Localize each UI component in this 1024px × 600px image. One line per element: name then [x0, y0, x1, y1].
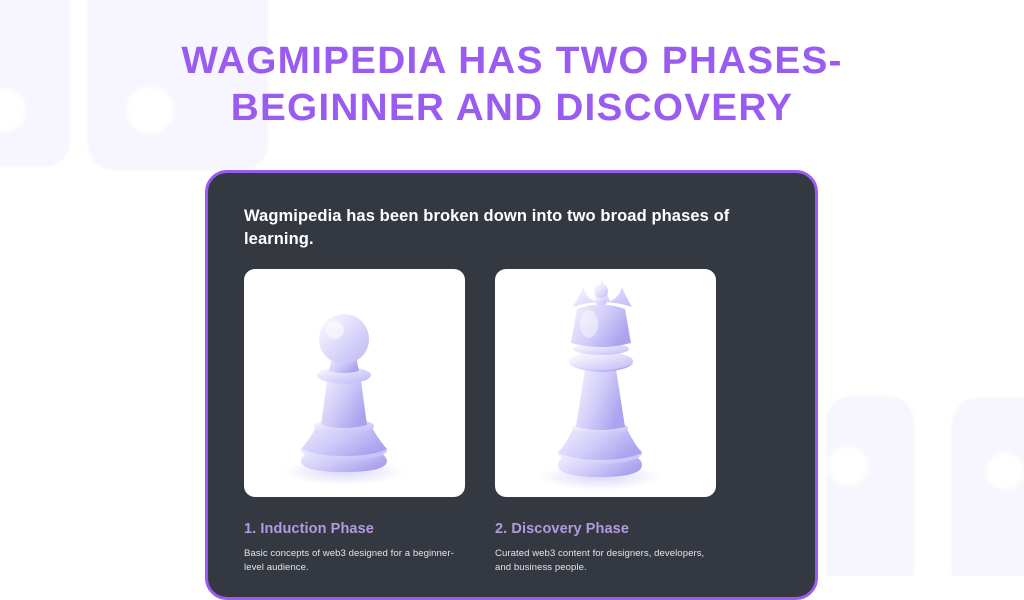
phase-image-induction	[244, 269, 465, 497]
phases-card: Wagmipedia has been broken down into two…	[205, 170, 818, 600]
bg-shape-bot-right	[826, 396, 914, 576]
bg-dot-far-right	[986, 452, 1024, 490]
bg-shape-far-right	[952, 398, 1024, 576]
phase-description-induction: Basic concepts of web3 designed for a be…	[244, 547, 465, 575]
page-title-line-1: Wagmipedia has two phases-	[0, 38, 1024, 85]
phase-description-discovery: Curated web3 content for designers, deve…	[495, 547, 716, 575]
chess-queen-icon	[495, 269, 716, 497]
page-title-line-2: Beginner and Discovery	[0, 85, 1024, 132]
phase-title-induction: 1. Induction Phase	[244, 521, 465, 537]
phase-column-induction: 1. Induction Phase Basic concepts of web…	[244, 269, 465, 575]
phase-title-discovery: 2. Discovery Phase	[495, 521, 716, 537]
bg-dot-bot-right	[828, 446, 868, 486]
chess-pawn-icon	[244, 269, 465, 497]
page-title: Wagmipedia has two phases- Beginner and …	[0, 38, 1024, 132]
phase-image-discovery	[495, 269, 716, 497]
phase-column-discovery: 2. Discovery Phase Curated web3 content …	[495, 269, 716, 575]
card-lead-text: Wagmipedia has been broken down into two…	[244, 205, 734, 251]
phases-columns: 1. Induction Phase Basic concepts of web…	[244, 269, 779, 575]
